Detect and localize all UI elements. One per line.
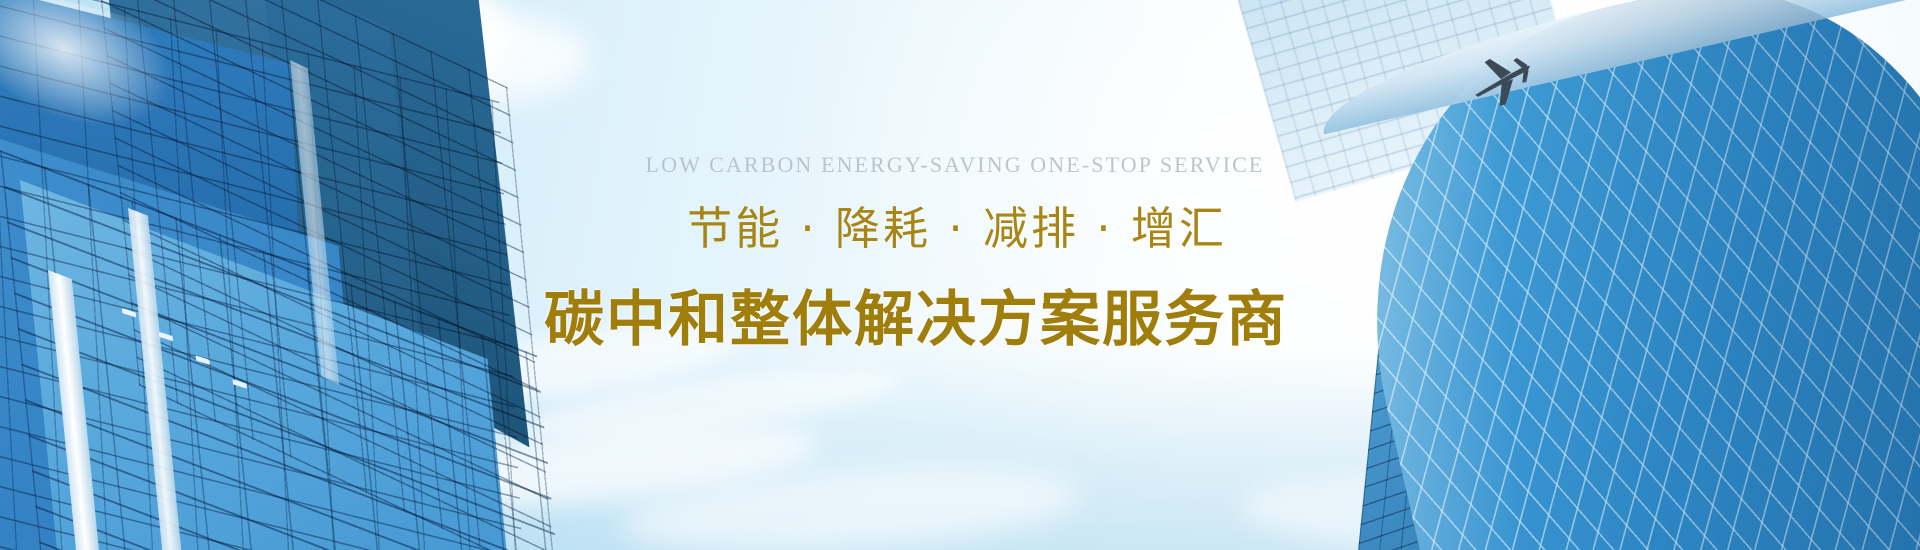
hero-banner: LOW CARBON ENERGY-SAVING ONE-STOP SERVIC…	[0, 0, 1920, 550]
hero-subline: 节能 · 降耗 · 减排 · 增汇	[687, 192, 1227, 257]
hero-headline: 碳中和整体解决方案服务商	[544, 271, 1288, 358]
hero-copy: LOW CARBON ENERGY-SAVING ONE-STOP SERVIC…	[0, 0, 1920, 550]
hero-eyebrow-tagline: LOW CARBON ENERGY-SAVING ONE-STOP SERVIC…	[646, 152, 1265, 178]
